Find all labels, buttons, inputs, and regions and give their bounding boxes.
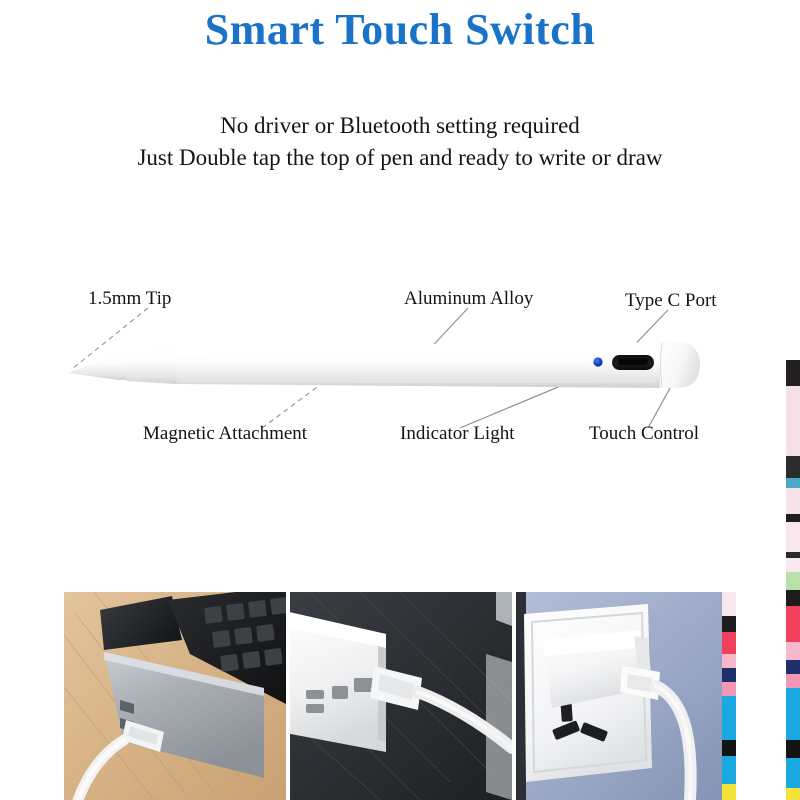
edge-band-5 [786, 514, 800, 522]
label-touch-control: Touch Control [589, 423, 699, 445]
edge-band-8 [786, 558, 800, 572]
subtitle-line-1: No driver or Bluetooth setting required [0, 110, 800, 142]
edge-band-9 [786, 572, 800, 590]
label-magnetic-attachment: Magnetic Attachment [143, 423, 307, 445]
edge-band-13 [786, 660, 800, 674]
edge-band-0 [786, 360, 800, 386]
edge-band-1 [786, 386, 800, 456]
edge-band-15 [786, 688, 800, 740]
label-indicator-light: Indicator Light [400, 423, 515, 445]
edge-band-14 [786, 674, 800, 688]
page-title: Smart Touch Switch [0, 4, 800, 55]
edge-band-11 [786, 606, 800, 642]
label-type-c-port: Type C Port [625, 290, 717, 312]
edge-band-2 [786, 456, 800, 478]
photo-strip [64, 592, 736, 800]
photo-laptop-usb [64, 592, 286, 800]
indicator-light [593, 357, 602, 366]
usb-c-port-inner [618, 359, 648, 365]
edge-band-3 [786, 478, 800, 488]
subtitle-block: No driver or Bluetooth setting required … [0, 110, 800, 174]
photo-powerbank-usb [290, 592, 512, 800]
photo-wall-charger [516, 592, 736, 800]
label-alloy: Aluminum Alloy [404, 288, 533, 310]
edge-image-sliver [786, 360, 800, 800]
stylus-cap [660, 342, 700, 388]
edge-band-16 [786, 740, 800, 758]
edge-band-17 [786, 758, 800, 788]
edge-band-4 [786, 488, 800, 514]
edge-band-12 [786, 642, 800, 660]
stylus-tip [68, 353, 126, 380]
edge-band-18 [786, 788, 800, 800]
subtitle-line-2: Just Double tap the top of pen and ready… [0, 142, 800, 174]
label-tip: 1.5mm Tip [88, 288, 171, 310]
edge-band-10 [786, 590, 800, 606]
edge-band-6 [786, 522, 800, 552]
stylus-shoulder [126, 346, 176, 384]
